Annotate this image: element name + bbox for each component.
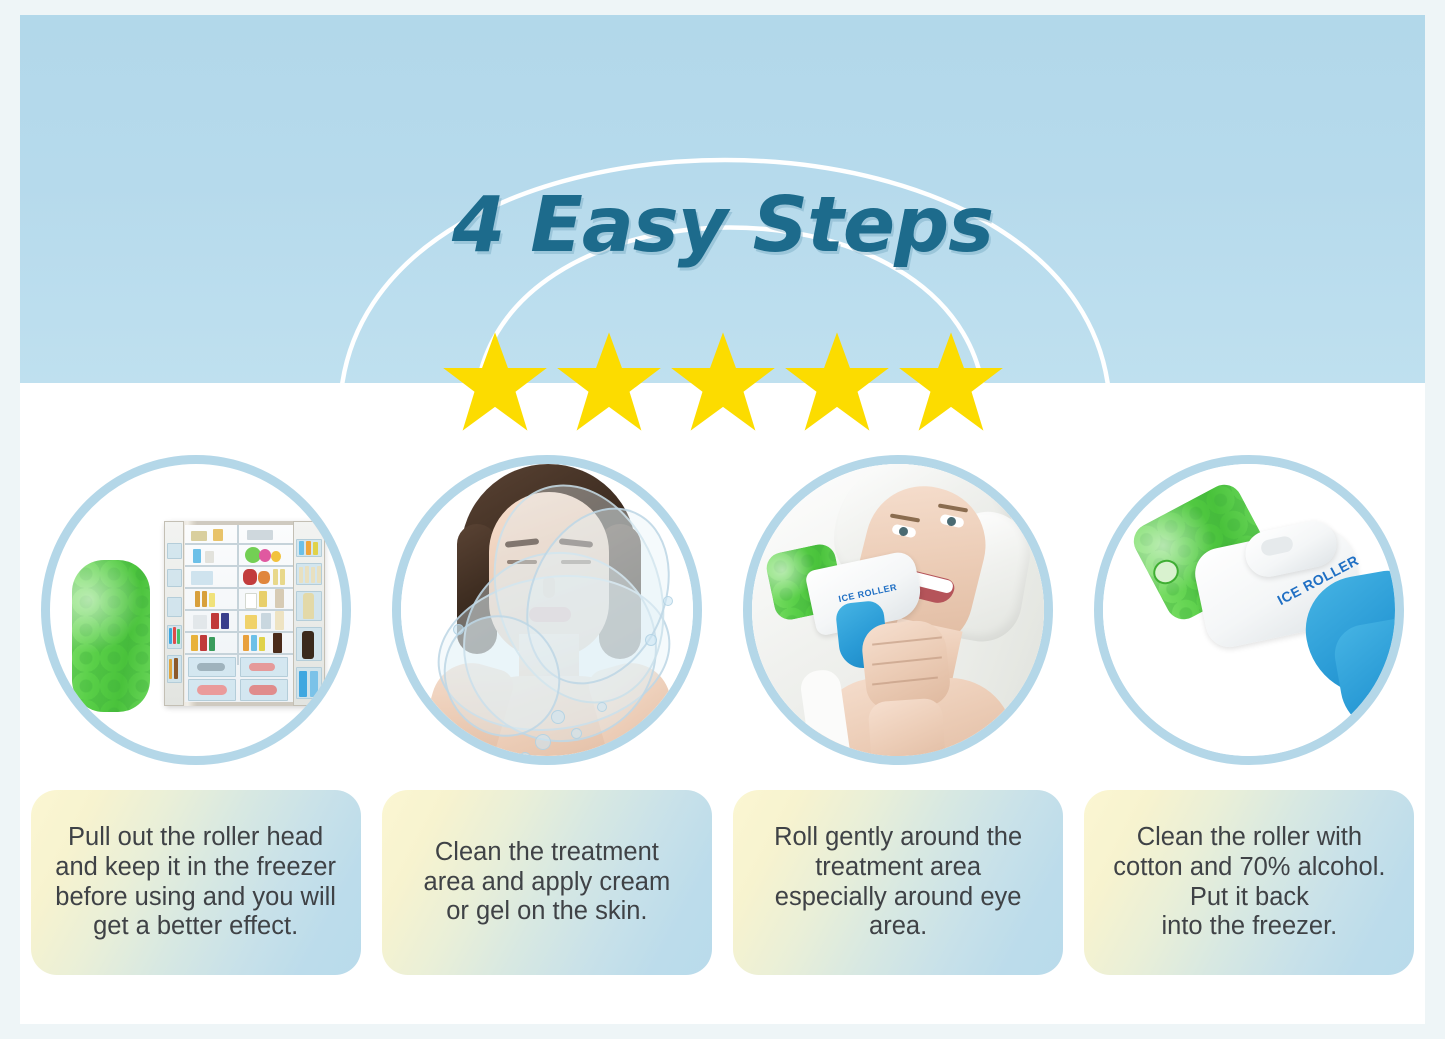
step-3-image: ICE ROLLER [743,455,1053,765]
step-2: Clean the treatment area and apply cream… [371,455,722,1015]
steps-row: Pull out the roller head and keep it in … [20,455,1425,1015]
step-4-image: ICE ROLLER [1094,455,1404,765]
step-4-caption-text: Clean the roller with cotton and 70% alc… [1113,823,1385,942]
product-infographic-poster: 4 Easy Steps [0,0,1445,1039]
step-3-caption-text: Roll gently around the treatment area es… [774,823,1022,942]
step-2-caption: Clean the treatment area and apply cream… [382,790,712,975]
step-4: ICE ROLLER Clean the roller with cotton … [1074,455,1425,1015]
step-1: Pull out the roller head and keep it in … [20,455,371,1015]
step-3: ICE ROLLER Roll gently around the treatm… [723,455,1074,1015]
poster-card: 4 Easy Steps [20,15,1425,1024]
step-1-caption-text: Pull out the roller head and keep it in … [55,823,336,942]
step-2-image [392,455,702,765]
roller-head-shape [72,560,150,712]
step-3-caption: Roll gently around the treatment area es… [733,790,1063,975]
refrigerator-shape [165,521,325,706]
step-1-image [41,455,351,765]
step-1-caption: Pull out the roller head and keep it in … [31,790,361,975]
step-4-caption: Clean the roller with cotton and 70% alc… [1084,790,1414,975]
step-2-caption-text: Clean the treatment area and apply cream… [424,838,671,927]
page-title: 4 Easy Steps [20,181,1425,270]
